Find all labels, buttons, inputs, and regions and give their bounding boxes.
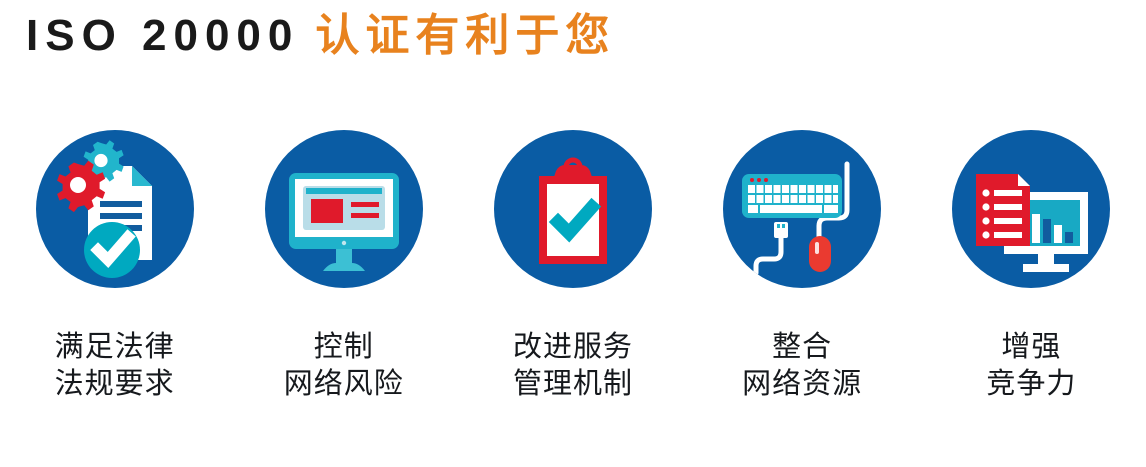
monitor-content-icon [265,130,423,288]
benefit-caption-1-line-1: 满足法律 [55,328,175,365]
benefit-caption-3: 改进服务 管理机制 [513,328,633,402]
benefit-caption-5: 增强 竞争力 [986,328,1076,402]
benefit-caption-3-line-1: 改进服务 [513,328,633,365]
benefit-icon-1 [36,130,194,288]
benefit-item-1[interactable]: 满足法律 法规要求 [0,130,229,402]
benefit-caption-5-line-2: 竞争力 [986,365,1076,402]
benefit-item-4[interactable]: 整合 网络资源 [688,130,917,402]
benefits-row: 满足法律 法规要求 控制 [0,130,1146,460]
benefit-icon-5 [952,130,1110,288]
benefit-caption-2-line-1: 控制 [284,328,404,365]
benefit-icon-3 [494,130,652,288]
benefit-item-3[interactable]: 改进服务 管理机制 [458,130,687,402]
clipboard-check-icon [494,130,652,288]
benefit-caption-2: 控制 网络风险 [284,328,404,402]
page-title-chinese: 认证有利于您 [315,11,615,60]
benefit-caption-4-line-2: 网络资源 [742,365,862,402]
benefit-icon-2 [265,130,423,288]
page-title: ISO 20000认证有利于您 [26,14,615,58]
benefit-caption-4: 整合 网络资源 [742,328,862,402]
benefit-caption-1: 满足法律 法规要求 [55,328,175,402]
keyboard-mouse-icon [723,130,881,288]
benefit-caption-1-line-2: 法规要求 [55,365,175,402]
benefit-caption-2-line-2: 网络风险 [284,365,404,402]
benefit-icon-4 [723,130,881,288]
document-gears-check-icon [36,130,194,288]
benefit-item-2[interactable]: 控制 网络风险 [229,130,458,402]
benefit-item-5[interactable]: 增强 竞争力 [917,130,1146,402]
benefit-caption-4-line-1: 整合 [742,328,862,365]
benefit-caption-3-line-2: 管理机制 [513,365,633,402]
benefit-caption-5-line-1: 增强 [986,328,1076,365]
page-title-latin: ISO 20000 [26,11,299,60]
report-chart-monitor-icon [952,130,1110,288]
